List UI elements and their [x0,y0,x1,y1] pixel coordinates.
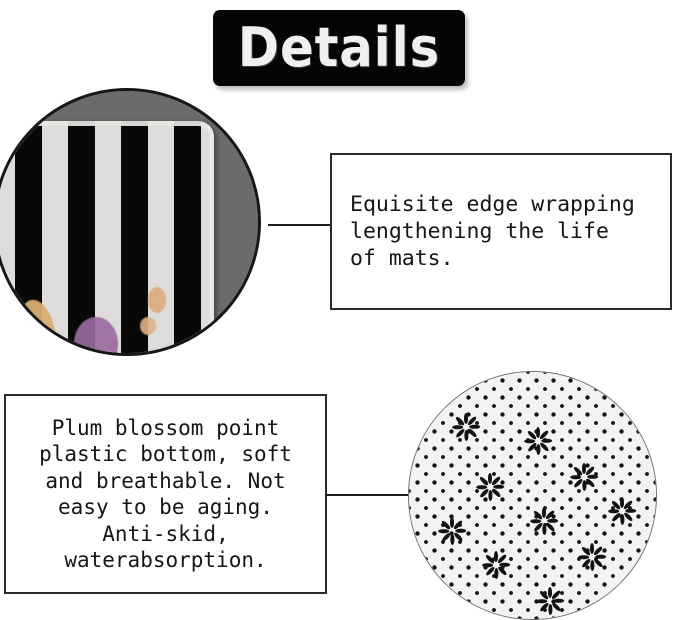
striped-mat-photo [0,88,261,356]
details-banner-title: Details [238,21,440,75]
connector-line-top [268,224,332,226]
connector-line-bottom [325,494,410,496]
blossom-icon [473,470,507,504]
blossom-icon [479,548,513,582]
blossom-icon [575,540,609,574]
callout-plastic-bottom-text: Plum blossom point plastic bottom, soft … [6,415,325,574]
blossom-icon [567,460,601,494]
details-banner: Details [213,10,465,86]
callout-plastic-bottom: Plum blossom point plastic bottom, soft … [4,394,327,594]
blossom-icon [533,584,567,618]
striped-mat-scene [0,91,258,353]
callout-edge-wrapping-text: Equisite edge wrapping lengthening the l… [332,191,635,272]
blossom-icon [527,504,561,538]
splash-blob [140,317,156,335]
infographic-canvas: Details [0,0,679,618]
splash-blob [0,353,36,356]
plastic-bottom-photo [408,371,657,620]
blossom-icon [435,514,469,548]
blossom-icon [449,410,483,444]
blossom-icon [521,424,555,458]
blossom-icon [605,494,639,528]
mat-body [0,121,214,356]
callout-edge-wrapping: Equisite edge wrapping lengthening the l… [330,153,672,310]
splash-blob [148,287,166,313]
